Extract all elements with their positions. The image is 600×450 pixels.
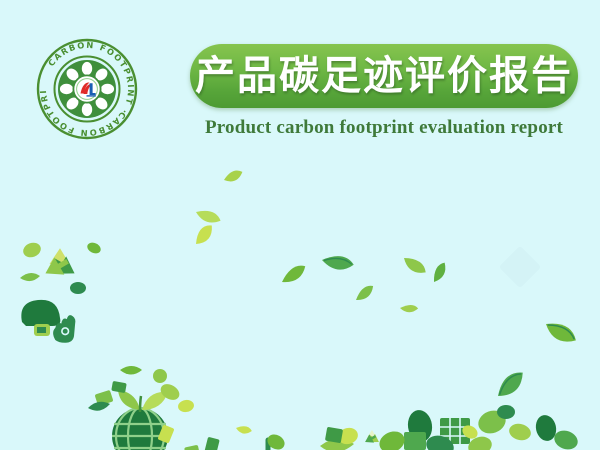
leaf-icon [401, 253, 429, 278]
recycle-icon [41, 248, 80, 282]
leaf-icon [493, 368, 529, 402]
poster-page: CARBON FOOTPRINT · CARBON FOOTPRINT · [0, 0, 600, 450]
leaf-icon [429, 261, 449, 285]
eco-illustration [0, 170, 600, 450]
leaf-icon [400, 303, 419, 313]
leaf-icon [279, 262, 309, 286]
globe-icon [112, 408, 168, 450]
carbon-footprint-seal-logo: CARBON FOOTPRINT · CARBON FOOTPRINT · [36, 38, 138, 140]
title-banner: 产品碳足迹评价报告 [190, 44, 578, 108]
header: CARBON FOOTPRINT · CARBON FOOTPRINT · [0, 0, 600, 160]
page-subtitle: Product carbon footprint evaluation repo… [190, 117, 578, 139]
leaf-icon [353, 283, 377, 303]
leaf-icon [321, 253, 355, 273]
page-title: 产品碳足迹评价报告 [195, 56, 573, 96]
leaf-icon [222, 170, 244, 184]
leaf-icon [542, 317, 579, 348]
leaf-icon [235, 424, 253, 436]
icon-cluster-bottom-right [320, 405, 580, 450]
leaf-icon [191, 222, 217, 247]
recycle-icon [363, 430, 382, 446]
leaf-icon [194, 206, 222, 227]
leaf-icon [118, 390, 168, 412]
